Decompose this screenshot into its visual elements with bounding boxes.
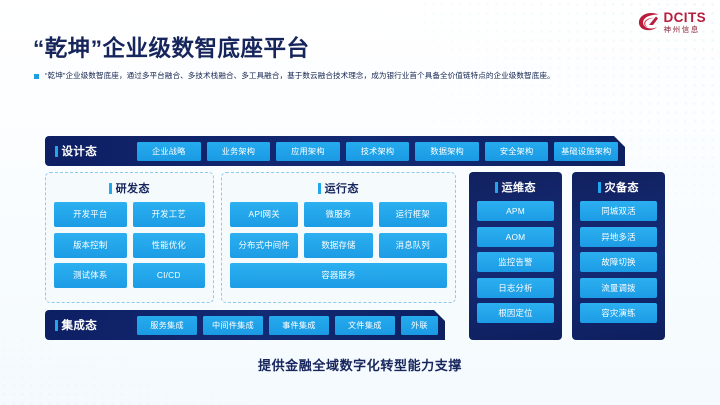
rd-cell[interactable]: 版本控制 (54, 233, 127, 258)
accent-bar-icon (55, 320, 58, 331)
rd-panel-title: 研发态 (116, 180, 150, 196)
integration-chip[interactable]: 外联 (401, 316, 438, 335)
design-chip[interactable]: 技术架构 (346, 142, 410, 161)
run-cell[interactable]: API网关 (230, 202, 298, 227)
logo-wordmark: DCITS 神州信息 (664, 11, 707, 33)
integration-band-chips: 服务集成 中间件集成 事件集成 文件集成 外联 (137, 316, 438, 335)
design-chip[interactable]: 业务架构 (207, 142, 271, 161)
design-band-chips: 企业战略 业务架构 应用架构 技术架构 数据架构 安全架构 基础设施架构 (137, 142, 618, 161)
rd-cell[interactable]: 性能优化 (133, 233, 206, 258)
accent-bar-icon (318, 183, 321, 194)
integration-band-title: 集成态 (55, 317, 131, 333)
run-panel-header: 运行态 (230, 180, 447, 196)
design-chip[interactable]: 应用架构 (276, 142, 340, 161)
run-cell-container-service[interactable]: 容器服务 (230, 263, 447, 288)
design-band-title-text: 设计态 (62, 143, 98, 159)
logo-cn-text: 神州信息 (664, 26, 707, 34)
architecture-diagram: 设计态 企业战略 业务架构 应用架构 技术架构 数据架构 安全架构 基础设施架构… (45, 136, 677, 340)
footer-tagline: 提供金融全域数字化转型能力支撑 (0, 355, 720, 374)
rd-row: 版本控制 性能优化 (54, 233, 205, 258)
page-title: “乾坤”企业级数智底座平台 (33, 31, 310, 63)
design-chip[interactable]: 数据架构 (415, 142, 479, 161)
run-row: 分布式中间件 数据存储 消息队列 (230, 233, 447, 258)
run-cell[interactable]: 运行框架 (379, 202, 447, 227)
square-bullet-icon (34, 74, 39, 79)
design-band: 设计态 企业战略 业务架构 应用架构 技术架构 数据架构 安全架构 基础设施架构 (45, 136, 625, 166)
design-band-title: 设计态 (55, 143, 131, 159)
dr-cell[interactable]: 容灾演练 (580, 303, 657, 323)
dr-cell[interactable]: 流量调拨 (580, 278, 657, 298)
design-chip[interactable]: 企业战略 (137, 142, 201, 161)
dr-column-title: 灾备态 (605, 179, 639, 195)
rd-row: 开发平台 开发工艺 (54, 202, 205, 227)
rd-cell[interactable]: CI/CD (133, 263, 206, 288)
ops-column-title: 运维态 (502, 179, 536, 195)
page-subtitle: “乾坤”企业级数智底座，通过多平台融合、多技术栈融合、多工具融合，基于数云融合技… (45, 70, 555, 81)
accent-bar-icon (109, 183, 112, 194)
ops-cell[interactable]: 监控告警 (477, 252, 554, 272)
accent-bar-icon (598, 182, 601, 193)
ops-cell[interactable]: 根因定位 (477, 303, 554, 323)
integration-band: 集成态 服务集成 中间件集成 事件集成 文件集成 外联 (45, 310, 445, 340)
ops-cell[interactable]: 日志分析 (477, 278, 554, 298)
dcits-swoosh-icon (638, 12, 660, 32)
dr-column-header: 灾备态 (580, 179, 657, 195)
rd-panel: 研发态 开发平台 开发工艺 版本控制 性能优化 测试体系 CI/CD (45, 172, 214, 303)
ops-cell[interactable]: AOM (477, 227, 554, 247)
integration-chip[interactable]: 事件集成 (269, 316, 329, 335)
dr-cell[interactable]: 同城双活 (580, 201, 657, 221)
design-chip[interactable]: 安全架构 (485, 142, 549, 161)
rd-cell[interactable]: 开发平台 (54, 202, 127, 227)
ops-cell[interactable]: APM (477, 201, 554, 221)
brand-logo: DCITS 神州信息 (638, 11, 707, 33)
slide-canvas: DCITS 神州信息 “乾坤”企业级数智底座平台 “乾坤”企业级数智底座，通过多… (0, 0, 720, 405)
integration-chip[interactable]: 中间件集成 (203, 316, 263, 335)
rd-cell[interactable]: 测试体系 (54, 263, 127, 288)
dr-cell[interactable]: 故障切换 (580, 252, 657, 272)
accent-bar-icon (495, 182, 498, 193)
accent-bar-icon (55, 146, 58, 157)
run-panel: 运行态 API网关 微服务 运行框架 分布式中间件 数据存储 消息队列 容器服务 (221, 172, 456, 303)
run-cell[interactable]: 消息队列 (379, 233, 447, 258)
run-cell[interactable]: 微服务 (304, 202, 372, 227)
subtitle-row: “乾坤”企业级数智底座，通过多平台融合、多技术栈融合、多工具融合，基于数云融合技… (34, 70, 555, 81)
rd-panel-header: 研发态 (54, 180, 205, 196)
run-panel-title: 运行态 (325, 180, 359, 196)
run-cell[interactable]: 分布式中间件 (230, 233, 298, 258)
ops-column-header: 运维态 (477, 179, 554, 195)
integration-chip[interactable]: 服务集成 (137, 316, 197, 335)
integration-band-title-text: 集成态 (62, 317, 98, 333)
logo-en-text: DCITS (664, 11, 707, 25)
design-chip[interactable]: 基础设施架构 (554, 142, 618, 161)
run-row-full: 容器服务 (230, 263, 447, 288)
dr-column: 灾备态 同城双活 异地多活 故障切换 流量调拨 容灾演练 (572, 172, 665, 340)
rd-cell[interactable]: 开发工艺 (133, 202, 206, 227)
integration-chip[interactable]: 文件集成 (335, 316, 395, 335)
run-cell[interactable]: 数据存储 (304, 233, 372, 258)
dr-cell[interactable]: 异地多活 (580, 227, 657, 247)
rd-row: 测试体系 CI/CD (54, 263, 205, 288)
ops-column: 运维态 APM AOM 监控告警 日志分析 根因定位 (469, 172, 562, 340)
run-row: API网关 微服务 运行框架 (230, 202, 447, 227)
